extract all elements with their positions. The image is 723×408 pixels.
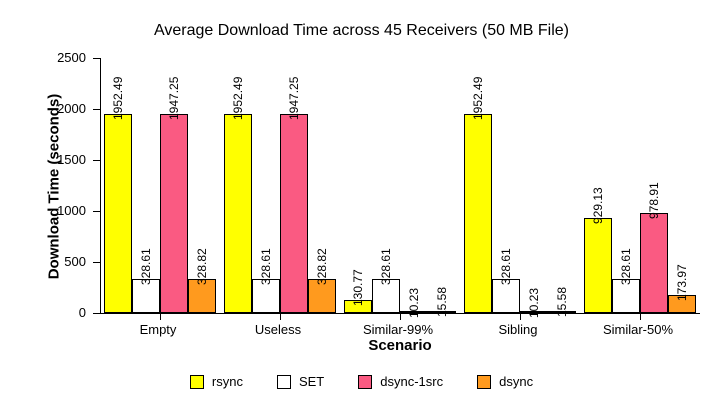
y-axis-tick: [93, 109, 100, 110]
bar-value-label: 328.61: [260, 249, 272, 286]
y-axis-tick-label: 0: [30, 306, 86, 319]
bar-chart: Average Download Time across 45 Receiver…: [0, 0, 723, 408]
x-axis-tick: [520, 313, 521, 320]
legend-item-set[interactable]: SET: [277, 374, 324, 389]
legend-item-dsync-1src[interactable]: dsync-1src: [358, 374, 443, 389]
y-axis-tick-label: 1000: [30, 204, 86, 217]
x-axis-tick: [280, 313, 281, 320]
bar-dsync-1src-similar-50%: [640, 213, 668, 313]
bar-rsync-similar-50%: [584, 218, 612, 313]
bar-value-label: 10.23: [408, 288, 420, 318]
y-axis-tick-label: 2000: [30, 102, 86, 115]
bar-value-label: 10.23: [528, 288, 540, 318]
bar-dsync-1src-useless: [280, 114, 308, 313]
legend-swatch-set: [277, 375, 291, 389]
legend-label: dsync-1src: [380, 374, 443, 389]
y-axis-tick-label: 2500: [30, 51, 86, 64]
legend-label: rsync: [212, 374, 243, 389]
y-axis-tick: [93, 211, 100, 212]
y-axis-tick: [93, 58, 100, 59]
x-axis-tick-label: Similar-50%: [603, 322, 673, 337]
bar-value-label: 15.58: [436, 287, 448, 317]
bar-value-label: 1947.25: [168, 77, 180, 120]
y-axis-tick: [93, 313, 100, 314]
y-axis-tick-label: 1500: [30, 153, 86, 166]
bar-rsync-empty: [104, 114, 132, 313]
x-axis-tick: [400, 313, 401, 320]
legend-swatch-dsync-1src: [358, 375, 372, 389]
bar-value-label: 328.82: [316, 249, 328, 286]
bar-value-label: 328.61: [620, 249, 632, 286]
x-axis-tick-label: Sibling: [498, 322, 537, 337]
bar-rsync-sibling: [464, 114, 492, 313]
legend-swatch-rsync: [190, 375, 204, 389]
legend-item-rsync[interactable]: rsync: [190, 374, 243, 389]
bar-value-label: 15.58: [556, 287, 568, 317]
plot-area: 1952.49328.611947.25328.821952.49328.611…: [100, 58, 700, 313]
bar-value-label: 1947.25: [288, 77, 300, 120]
legend-swatch-dsync: [477, 375, 491, 389]
legend-label: dsync: [499, 374, 533, 389]
chart-title: Average Download Time across 45 Receiver…: [0, 22, 723, 40]
y-axis-tick: [93, 160, 100, 161]
bar-value-label: 130.77: [352, 269, 364, 306]
y-axis-tick: [93, 262, 100, 263]
x-axis-tick-label: Useless: [255, 322, 301, 337]
legend-label: SET: [299, 374, 324, 389]
bar-value-label: 328.61: [140, 249, 152, 286]
bar-value-label: 1952.49: [472, 76, 484, 119]
bar-rsync-useless: [224, 114, 252, 313]
bar-value-label: 328.61: [380, 249, 392, 286]
bar-value-label: 1952.49: [112, 76, 124, 119]
bar-value-label: 328.61: [500, 249, 512, 286]
y-axis-tick-label: 500: [30, 255, 86, 268]
legend-item-dsync[interactable]: dsync: [477, 374, 533, 389]
bar-value-label: 1952.49: [232, 76, 244, 119]
x-axis-tick-label: Similar-99%: [363, 322, 433, 337]
x-axis-tick: [160, 313, 161, 320]
bar-value-label: 929.13: [592, 188, 604, 225]
bar-dsync-1src-empty: [160, 114, 188, 313]
bar-value-label: 978.91: [648, 182, 660, 219]
bar-value-label: 328.82: [196, 249, 208, 286]
chart-legend: rsyncSETdsync-1srcdsync: [0, 374, 723, 389]
x-axis-tick-label: Empty: [140, 322, 177, 337]
x-axis-tick: [640, 313, 641, 320]
y-axis-title: Download Time (seconds): [46, 57, 63, 317]
x-axis-title: Scenario: [100, 337, 700, 354]
bar-value-label: 173.97: [676, 265, 688, 302]
